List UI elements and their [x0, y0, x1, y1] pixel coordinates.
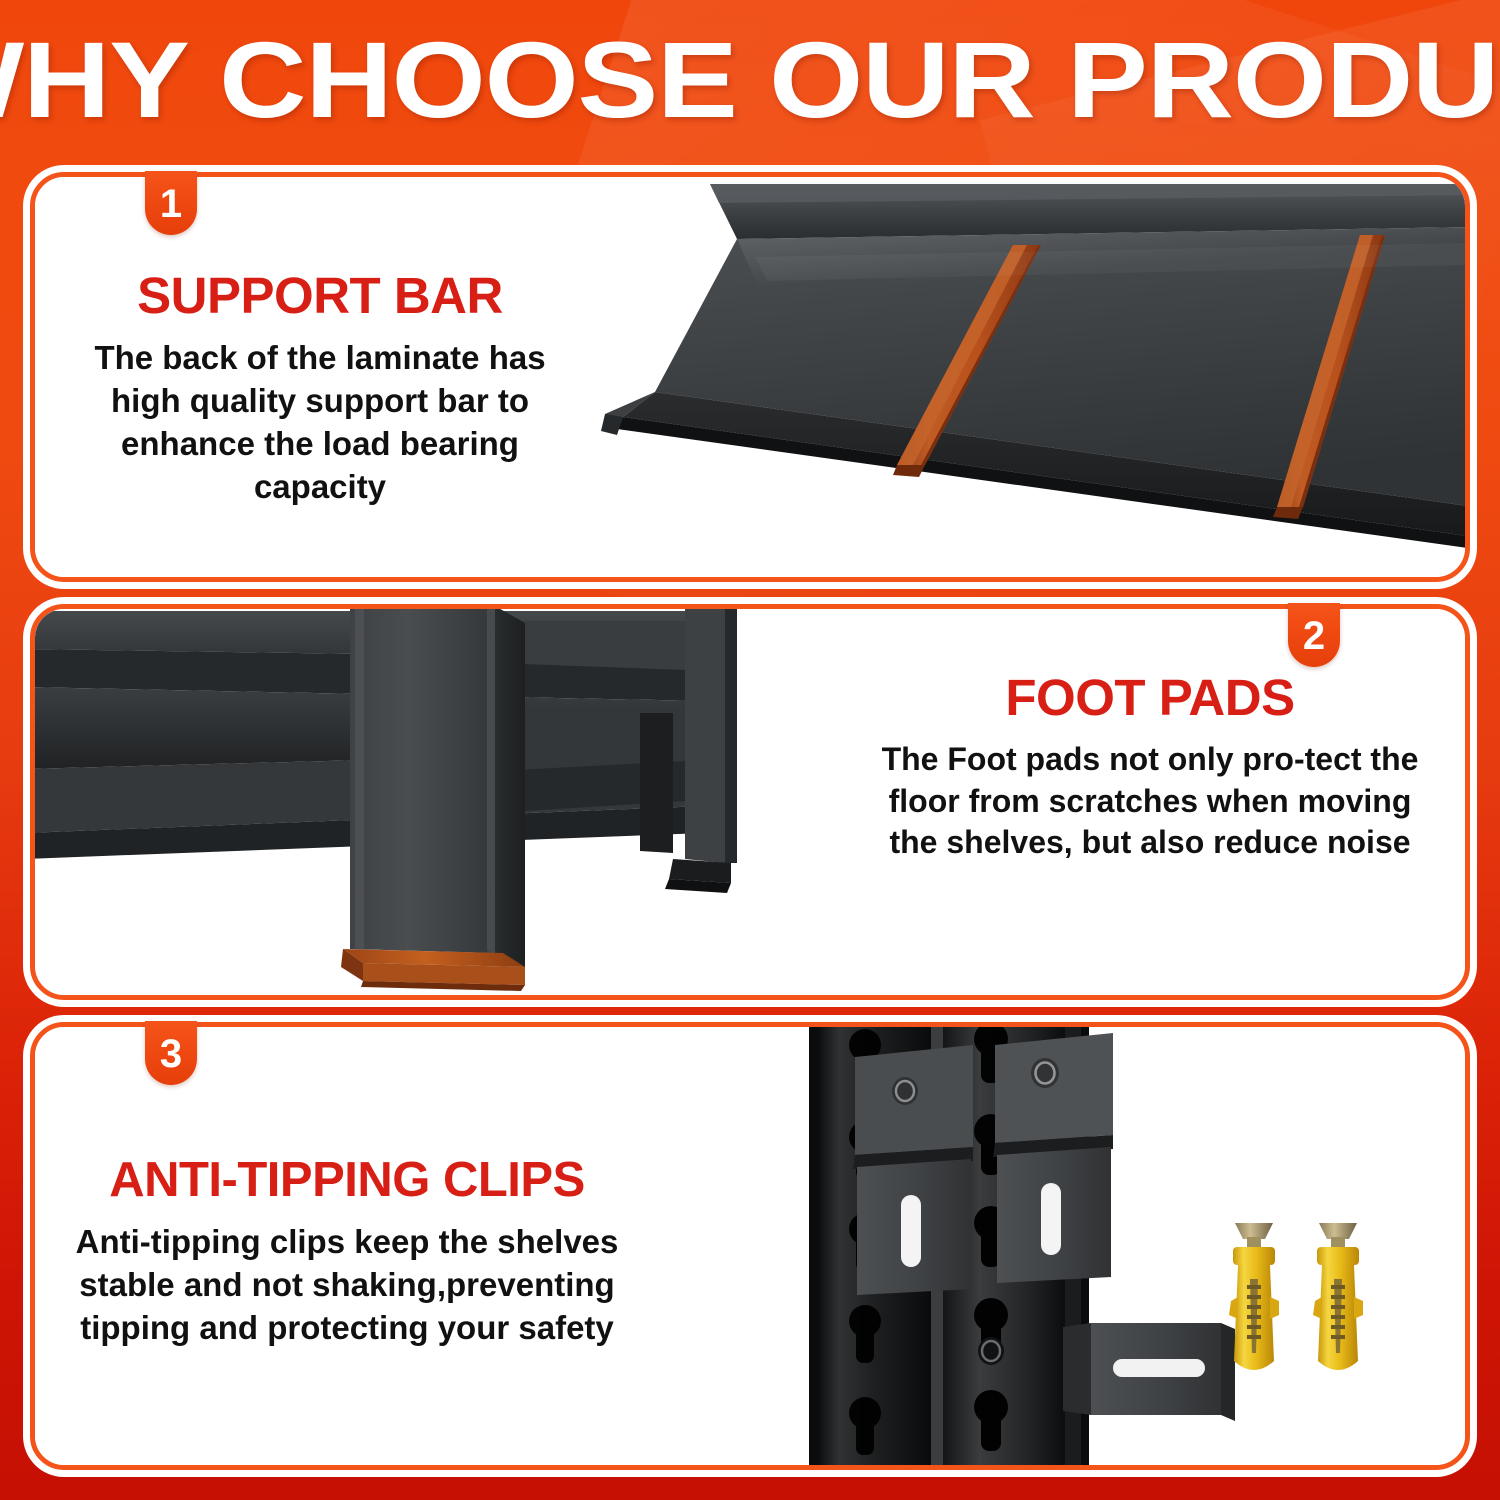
infographic-root: WHY CHOOSE OUR PRODUCT	[0, 0, 1500, 1500]
wall-anchor-left	[1229, 1223, 1279, 1370]
panel-3-description: Anti-tipping clips keep the shelves stab…	[67, 1221, 627, 1350]
page-title: WHY CHOOSE OUR PRODUCT	[0, 26, 1500, 134]
panel-1-content: SUPPORT BAR The back of the laminate has…	[35, 177, 1465, 577]
anti-tipping-hardware-image	[795, 1027, 1465, 1465]
panel-1-title: SUPPORT BAR	[75, 269, 565, 323]
panel-1-text: SUPPORT BAR The back of the laminate has…	[75, 269, 565, 509]
panel-2-content: FOOT PADS The Foot pads not only pro-tec…	[35, 609, 1465, 995]
panel-2-badge: 2	[1288, 603, 1340, 667]
shelf-laminate-image	[505, 177, 1465, 577]
panel-2-text: FOOT PADS The Foot pads not only pro-tec…	[865, 671, 1435, 864]
anti-tipping-clip-right	[993, 1033, 1113, 1283]
mounted-bracket	[1063, 1323, 1235, 1421]
panel-3-badge: 3	[145, 1021, 197, 1085]
feature-panel-support-bar: SUPPORT BAR The back of the laminate has…	[30, 172, 1470, 582]
panel-3-title: ANTI-TIPPING CLIPS	[67, 1155, 627, 1207]
panel-3-text: ANTI-TIPPING CLIPS Anti-tipping clips ke…	[67, 1155, 627, 1350]
anti-tipping-clip-left	[853, 1045, 973, 1295]
feature-panel-anti-tipping-clips: ANTI-TIPPING CLIPS Anti-tipping clips ke…	[30, 1022, 1470, 1470]
panel-2-title: FOOT PADS	[865, 671, 1435, 725]
shelf-legs-image	[35, 609, 815, 995]
panel-1-description: The back of the laminate has high qualit…	[75, 337, 565, 509]
panel-3-content: ANTI-TIPPING CLIPS Anti-tipping clips ke…	[35, 1027, 1465, 1465]
panel-1-badge: 1	[145, 171, 197, 235]
wall-anchor-right	[1313, 1223, 1363, 1370]
post-grommet	[978, 1337, 1004, 1365]
feature-panel-foot-pads: FOOT PADS The Foot pads not only pro-tec…	[30, 604, 1470, 1000]
panel-2-description: The Foot pads not only pro-tect the floo…	[865, 739, 1435, 864]
